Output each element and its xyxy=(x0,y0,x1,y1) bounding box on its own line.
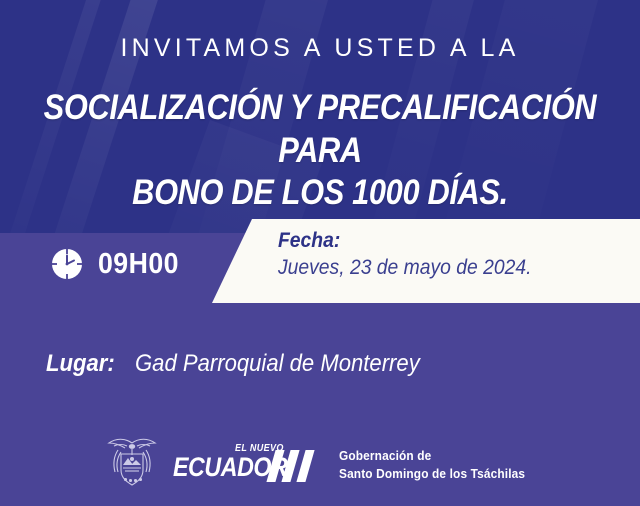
date-banner-content: Fecha: Jueves, 23 de mayo de 2024. xyxy=(278,229,554,281)
kicker-text: INVITAMOS A USTED A LA xyxy=(0,36,640,61)
clock-icon xyxy=(50,247,84,281)
event-time: 09H00 xyxy=(98,250,179,279)
date-label: Fecha: xyxy=(278,229,531,254)
time-row: 09H00 xyxy=(50,247,186,281)
date-value: Jueves, 23 de mayo de 2024. xyxy=(278,254,531,281)
place-label: Lugar: xyxy=(46,352,115,376)
footer-logo-lockup: EL NUEVO ECUADOR Gobernación de Santo Do… xyxy=(0,424,640,506)
place-value: Gad Parroquial de Monterrey xyxy=(135,352,420,376)
organization-line-1: Gobernación de xyxy=(339,449,431,463)
place-row: Lugar: Gad Parroquial de Monterrey xyxy=(46,352,444,376)
headline-block: INVITAMOS A USTED A LA SOCIALIZACIÓN Y P… xyxy=(0,0,640,215)
event-invitation-poster: INVITAMOS A USTED A LA SOCIALIZACIÓN Y P… xyxy=(0,0,640,506)
headline-line-1: SOCIALIZACIÓN Y PRECALIFICACIÓN PARA xyxy=(44,88,597,170)
page-title: SOCIALIZACIÓN Y PRECALIFICACIÓN PARA BON… xyxy=(38,87,601,215)
date-banner: Fecha: Jueves, 23 de mayo de 2024. xyxy=(212,219,640,303)
three-slashes-icon xyxy=(269,450,319,482)
organization-name: Gobernación de Santo Domingo de los Tsác… xyxy=(339,447,525,483)
headline-line-2: BONO DE LOS 1000 DÍAS. xyxy=(38,172,601,215)
ecuador-coat-of-arms-icon xyxy=(105,434,159,496)
organization-line-2: Santo Domingo de los Tsáchilas xyxy=(339,467,525,481)
el-nuevo-ecuador-logo: EL NUEVO ECUADOR xyxy=(173,442,321,488)
